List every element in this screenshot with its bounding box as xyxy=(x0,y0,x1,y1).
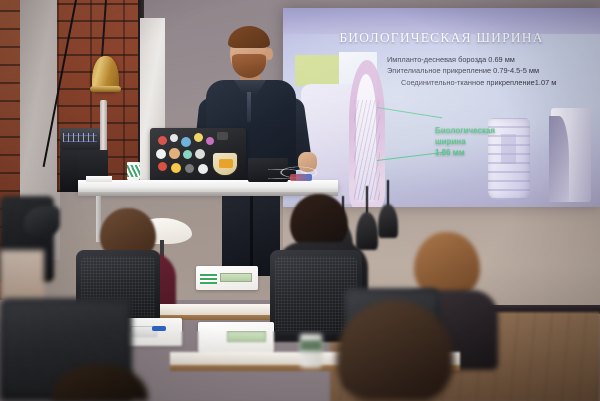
unit-lcd-display xyxy=(227,331,267,342)
pendant-lamp-cord xyxy=(387,180,389,206)
gum-fiber-striae xyxy=(354,100,380,200)
slide-line-3: Соединительно-тканное прикрепление1.07 м xyxy=(387,77,600,88)
laptop-sticker xyxy=(198,164,208,174)
slide-callout-biological-width: Биологическая ширина 1.86 мм xyxy=(435,125,495,158)
unit-lcd-display xyxy=(220,273,252,282)
presenter-leg-seam xyxy=(250,196,253,274)
laptop-sticker xyxy=(183,150,192,159)
callout-line-2: ширина xyxy=(435,136,495,147)
desk-papers xyxy=(86,176,112,182)
dental-training-unit xyxy=(196,266,258,290)
laptop-sticker xyxy=(185,164,194,173)
projection-screen: БИОЛОГИЧЕСКАЯ ШИРИНА Импланто-десневая б… xyxy=(283,8,600,207)
audio-mixer xyxy=(60,128,100,150)
laptop-sticker xyxy=(156,149,166,159)
presenter-shirt-placket xyxy=(247,92,251,122)
laptop-sticker xyxy=(158,162,167,171)
paper-cup-pattern xyxy=(127,165,140,177)
unit-green-pad xyxy=(200,272,217,284)
presenter-ear xyxy=(266,48,273,60)
slide-line-2: Эпителиальное прикрепление 0.79-4.5-5 мм xyxy=(387,65,600,76)
laptop-sticker xyxy=(217,132,228,140)
desk-small-object xyxy=(290,174,312,181)
bell-lamp-rim xyxy=(90,86,121,92)
sticker-laptop xyxy=(150,128,246,182)
presenter-beard xyxy=(232,54,266,78)
dental-implant-render-right xyxy=(551,108,591,202)
laptop-sticker xyxy=(170,134,178,142)
callout-line-3: 1.86 мм xyxy=(435,147,495,158)
slide-line-1: Импланто-десневая борозда 0.69 мм xyxy=(387,54,600,65)
laptop-sticker xyxy=(194,133,203,142)
slide-text-block: Импланто-десневая борозда 0.69 мм Эпител… xyxy=(387,54,600,88)
laptop-sticker-shield xyxy=(212,152,238,176)
foreground-cup-band xyxy=(300,340,322,351)
callout-leader-line-top xyxy=(377,107,442,118)
presenter-table-edge xyxy=(78,192,338,196)
slide-title: БИОЛОГИЧЕСКАЯ ШИРИНА xyxy=(283,30,600,46)
pendant-lamp-cord xyxy=(366,186,368,214)
laptop-sticker xyxy=(181,137,191,147)
laptop-sticker xyxy=(158,136,167,145)
laptop-sticker xyxy=(169,148,180,159)
laptop-sticker xyxy=(195,149,205,159)
presenter-hair xyxy=(228,26,270,48)
laptop-sticker xyxy=(206,137,214,145)
laptop-sticker xyxy=(171,163,181,173)
desk-device-left xyxy=(124,318,182,346)
lecture-room-photo: БИОЛОГИЧЕСКАЯ ШИРИНА Импланто-десневая б… xyxy=(0,0,600,401)
desk-device-blue-marker xyxy=(152,326,166,331)
callout-line-1: Биологическая xyxy=(435,125,495,136)
desk-lamp-head xyxy=(24,206,60,236)
callout-leader-line-bottom xyxy=(377,152,443,161)
dental-training-unit xyxy=(198,322,274,352)
